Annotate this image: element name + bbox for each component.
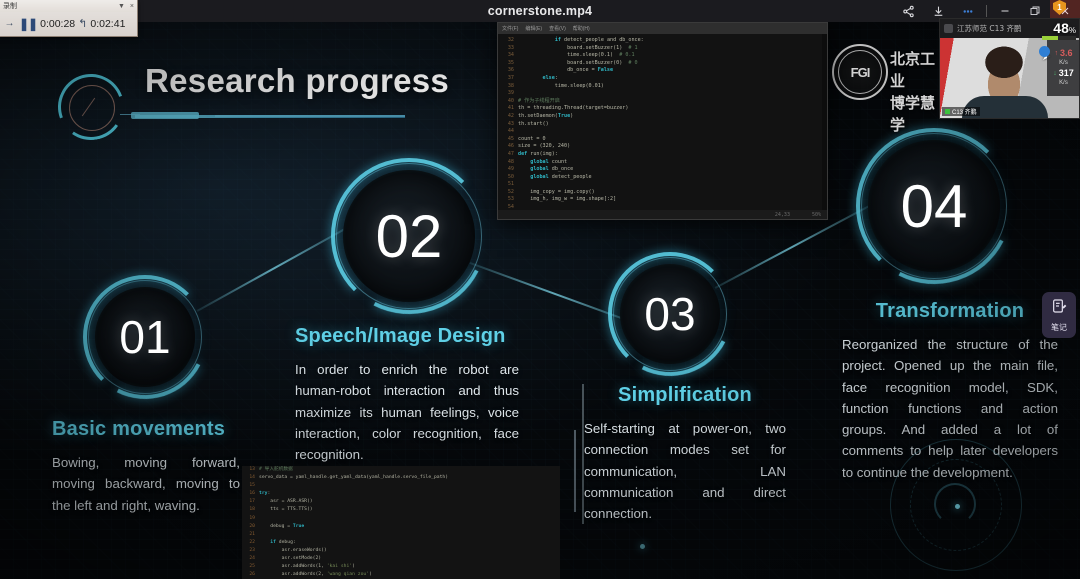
- network-globe-icon: [1039, 46, 1050, 57]
- connector-01-02: [197, 224, 353, 312]
- code-line: 52 img_copy = img.copy(): [498, 189, 827, 197]
- section-01-body: Bowing, moving forward, moving backward,…: [52, 452, 240, 516]
- menu-view[interactable]: 查看(V): [549, 25, 566, 32]
- step-badge-04[interactable]: 04: [868, 140, 1000, 272]
- section-03-accent-bar: [574, 430, 576, 512]
- code-line: 53 img_h, img_w = img.shape[:2]: [498, 196, 827, 204]
- avatar: [944, 24, 953, 33]
- section-02-heading: Speech/Image Design: [295, 325, 519, 348]
- code-line: 25 asr.addWords(1, 'kai shi'): [242, 563, 560, 571]
- code-line: 21: [242, 531, 560, 539]
- upload-speed-unit: K/s: [1059, 60, 1068, 67]
- code-editor-text-area[interactable]: 32 if detect_people and db_once:33 board…: [498, 34, 827, 212]
- download-speed-value: 317: [1059, 69, 1074, 78]
- video-player-window: Research progress 01 02 03 04 Basic move…: [0, 0, 1080, 579]
- code-line: 39: [498, 90, 827, 98]
- recorder-minimize-icon[interactable]: ▼: [118, 3, 125, 10]
- code-line: 49 global db_once: [498, 166, 827, 174]
- section-01-heading: Basic movements: [52, 418, 240, 441]
- code-line: 34 time.sleep(0.1) # 0.1: [498, 52, 827, 60]
- section-03-body: Self-starting at power-on, two connectio…: [584, 418, 786, 524]
- recorder-elapsed-time: 0:00:28: [40, 18, 75, 30]
- battery-indicator: 48%: [1053, 20, 1076, 36]
- step-number-04: 04: [901, 172, 968, 241]
- code-line: 33 board.setBuzzer(1) # 1: [498, 45, 827, 53]
- step-badge-01[interactable]: 01: [95, 287, 195, 387]
- code-line: 14servo_data = yaml_handle.get_yaml_data…: [242, 474, 560, 482]
- recorder-window-buttons: ▼ ×: [118, 3, 134, 10]
- recorder-titlebar: 录制 ▼ ×: [0, 0, 137, 12]
- code-line: 35 board.setBuzzer(0) # 0: [498, 60, 827, 68]
- code-line: 23 asr.eraseWords(): [242, 547, 560, 555]
- mic-active-indicator: [945, 109, 950, 114]
- participant-name: 江苏师范 C13 齐鹏: [957, 23, 1022, 34]
- code-line: 50 global detect_people: [498, 174, 827, 182]
- code-line: 36 db_once = False: [498, 67, 827, 75]
- code-line: 38 time.sleep(0.01): [498, 83, 827, 91]
- logo-cn-line-2: 博学慧学: [890, 92, 946, 136]
- logo-cn-line-1: 北京工业: [890, 48, 946, 92]
- code-editor-window[interactable]: 文件(F) 编辑(E) 查看(V) 帮助(H) 32 if detect_peo…: [497, 22, 828, 220]
- code-line: 48 global count: [498, 159, 827, 167]
- shield-badge-count: 1: [1057, 3, 1061, 12]
- webcam-tag-label: C13 齐鹏: [952, 107, 977, 116]
- code-editor-statusbar: 24,33 50%: [498, 210, 827, 219]
- menu-help[interactable]: 帮助(H): [573, 25, 590, 32]
- download-speed-row: ↓ 317: [1053, 69, 1074, 78]
- code-line: 18 tts = TTS.TTS(): [242, 506, 560, 514]
- code-line: 16try:: [242, 490, 560, 498]
- note-edit-icon: [1051, 298, 1067, 319]
- video-slide-canvas[interactable]: Research progress 01 02 03 04 Basic move…: [0, 22, 1080, 579]
- download-speed-unit: K/s: [1059, 80, 1068, 87]
- hud-circle-decoration: [58, 74, 124, 140]
- recorder-pause-icon[interactable]: ❚❚: [19, 17, 37, 31]
- network-speed-widget: ↑ 3.6 K/s ↓ 317 K/s: [1047, 40, 1080, 96]
- toolbar-divider: [986, 5, 987, 17]
- code-line: 19: [242, 515, 560, 523]
- battery-level-bar: [1042, 36, 1076, 40]
- code-line: 32 if detect_people and db_once:: [498, 37, 827, 45]
- code-line: 40# 作为子线程开启: [498, 98, 827, 106]
- code-line: 44: [498, 128, 827, 136]
- code-editor-scrollbar[interactable]: [822, 34, 827, 219]
- glow-dot: [955, 504, 960, 509]
- seal-text: FGI: [851, 65, 870, 80]
- university-seal-logo: FGI: [832, 44, 888, 100]
- code-line: 43th.start(): [498, 121, 827, 129]
- window-titlebar[interactable]: cornerstone.mp4: [0, 0, 1080, 22]
- code-line: 13# 导入舵机数据: [242, 466, 560, 474]
- upload-speed-value: 3.6: [1060, 49, 1073, 58]
- code-line: 20 debug = True: [242, 523, 560, 531]
- download-arrow-icon: ↓: [1053, 70, 1057, 77]
- code-snippet-block[interactable]: 13# 导入舵机数据14servo_data = yaml_handle.get…: [242, 466, 560, 579]
- step-badge-03[interactable]: 03: [620, 264, 720, 364]
- section-04-transformation: Transformation Reorganized the structure…: [842, 300, 1058, 483]
- upload-speed-row: ↑ 3.6: [1054, 49, 1072, 58]
- step-badge-02[interactable]: 02: [343, 170, 475, 302]
- recorder-controls: → ❚❚ 0:00:28 ↰ 0:02:41: [0, 12, 137, 35]
- recorder-step-icon[interactable]: →: [3, 18, 16, 29]
- battery-percent-sign: %: [1069, 26, 1076, 35]
- section-04-heading: Transformation: [842, 300, 1058, 323]
- section-03-heading: Simplification: [584, 384, 786, 407]
- recorder-undo-icon[interactable]: ↰: [78, 17, 87, 30]
- share-icon[interactable]: [893, 0, 923, 22]
- recorder-close-icon[interactable]: ×: [130, 3, 134, 10]
- code-line: 41th = threading.Thread(target=buzzer): [498, 105, 827, 113]
- code-line: 42th.setDaemon(True): [498, 113, 827, 121]
- code-line: 47def run(img):: [498, 151, 827, 159]
- menu-file[interactable]: 文件(F): [502, 25, 518, 32]
- zoom-level: 50%: [812, 212, 821, 218]
- webcam-name-tag: C13 齐鹏: [942, 107, 980, 116]
- menu-edit[interactable]: 编辑(E): [525, 25, 542, 32]
- upload-arrow-icon: ↑: [1054, 50, 1058, 57]
- code-line: 26 asr.addWords(2, 'wang qian zou'): [242, 571, 560, 579]
- code-line: 45count = 0: [498, 136, 827, 144]
- page-title: Research progress: [145, 62, 449, 100]
- recorder-title: 录制: [3, 1, 17, 11]
- notes-button[interactable]: 笔记: [1042, 292, 1076, 338]
- title-underline-thin: [215, 115, 405, 117]
- code-line: 37 else:: [498, 75, 827, 83]
- section-02-speech-image-design: Speech/Image Design In order to enrich t…: [295, 325, 519, 465]
- step-number-01: 01: [119, 310, 170, 364]
- code-line: 22 if debug:: [242, 539, 560, 547]
- title-underline-cap: [131, 112, 199, 119]
- section-03-simplification: Simplification Self-starting at power-on…: [582, 384, 786, 524]
- code-line: 15: [242, 482, 560, 490]
- code-line: 46size = (320, 240): [498, 143, 827, 151]
- university-name-calligraphy: 北京工业 博学慧学: [890, 48, 946, 96]
- battery-percent-value: 48: [1053, 20, 1069, 36]
- code-editor-menubar[interactable]: 文件(F) 编辑(E) 查看(V) 帮助(H): [498, 23, 827, 34]
- recorder-total-time: 0:02:41: [90, 18, 125, 30]
- cursor-position: 24,33: [775, 212, 790, 218]
- code-line: 17 asr = ASR.ASR(): [242, 498, 560, 506]
- section-04-body: Reorganized the structure of the project…: [842, 334, 1058, 483]
- section-02-body: In order to enrich the robot are human-r…: [295, 359, 519, 465]
- screen-recorder-toolbar[interactable]: 录制 ▼ × → ❚❚ 0:00:28 ↰ 0:02:41: [0, 0, 138, 37]
- step-number-03: 03: [644, 287, 695, 341]
- section-01-basic-movements: Basic movements Bowing, moving forward, …: [52, 418, 240, 516]
- glow-dot: [640, 544, 645, 549]
- code-line: 51: [498, 181, 827, 189]
- notes-button-label: 笔记: [1051, 322, 1067, 333]
- step-number-02: 02: [376, 202, 443, 271]
- code-line: 24 asr.setMode(2): [242, 555, 560, 563]
